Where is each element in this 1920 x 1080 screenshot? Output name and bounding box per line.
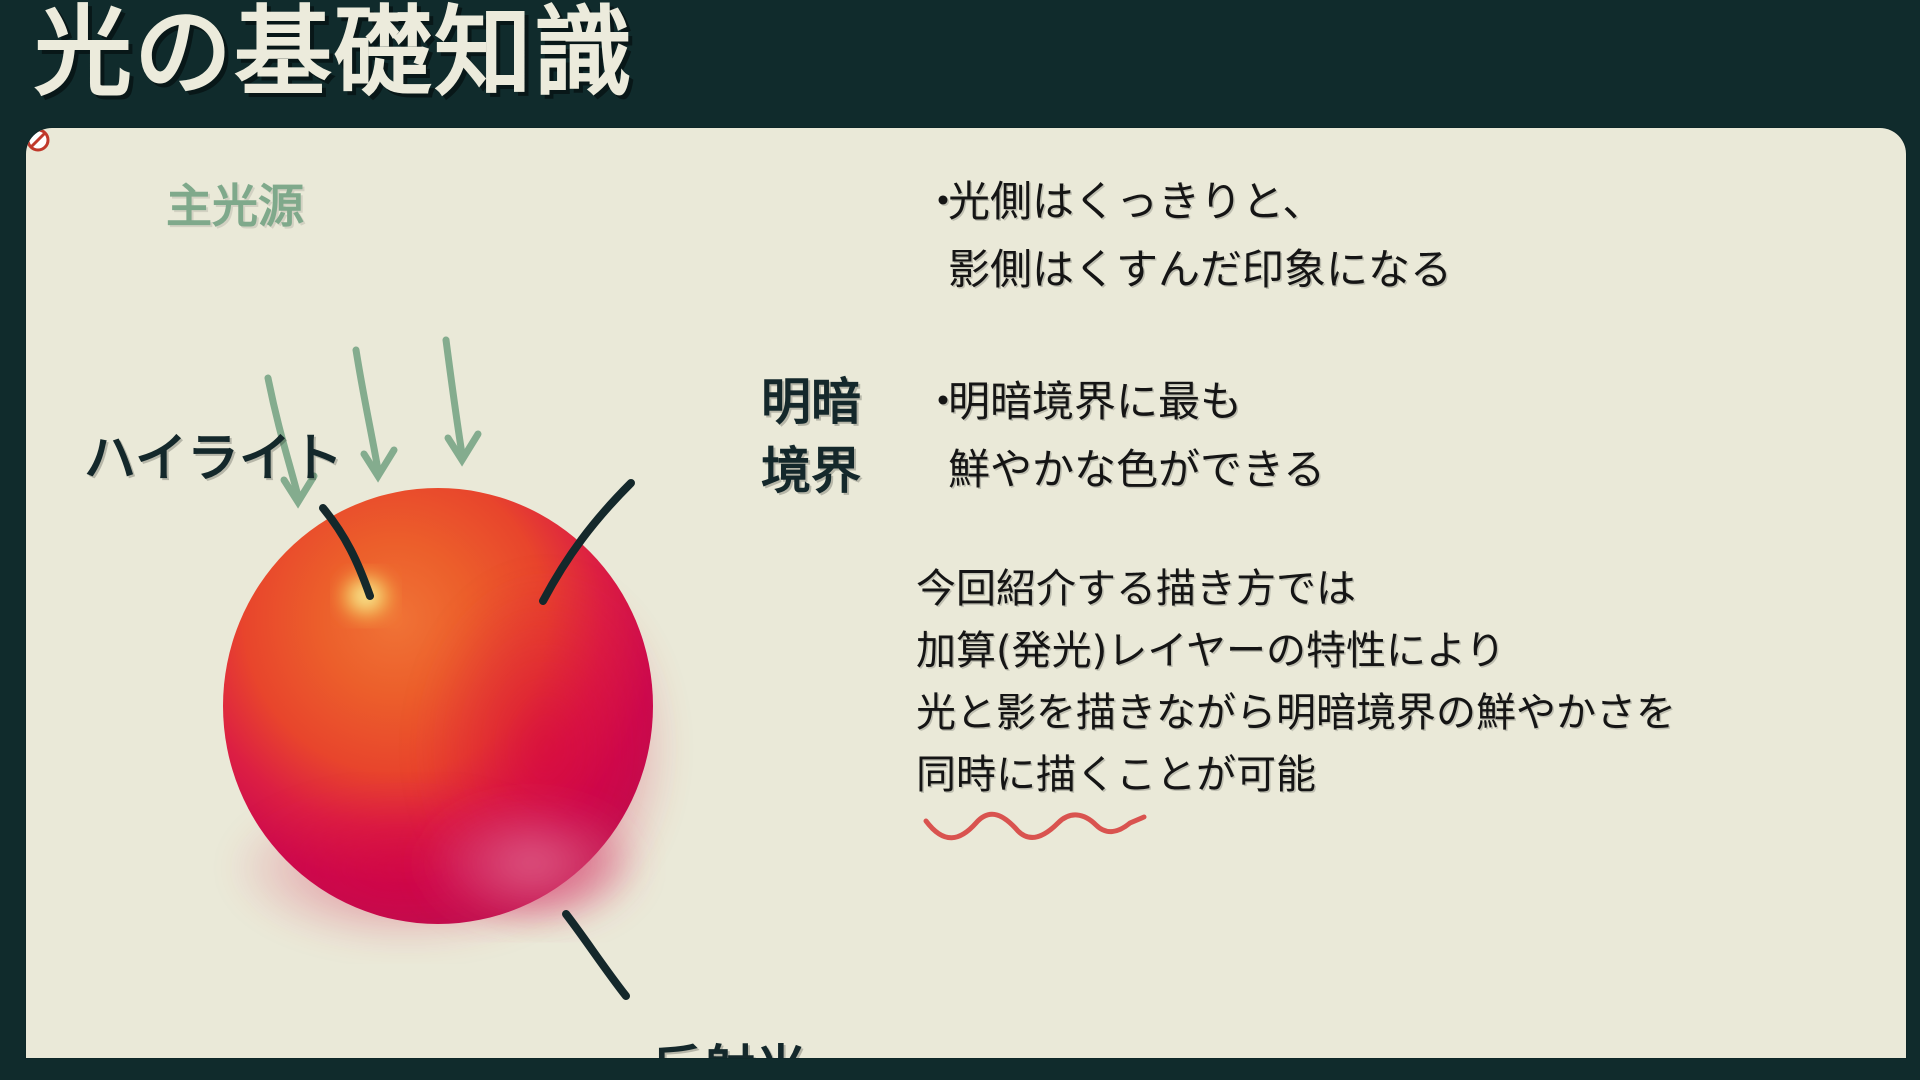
page-title: 光の基礎知識 <box>34 2 634 105</box>
bullet-text: 光側はくっきりと、 影側はくすんだ印象になる <box>948 168 1452 304</box>
label-terminator-line1: 明暗 <box>761 368 861 437</box>
paragraph-line: 同時に描くことが可能 <box>916 744 1676 806</box>
bullet-line: 光側はくっきりと、 <box>948 168 1452 236</box>
bullet-item-1: ・ 光側はくっきりと、 影側はくすんだ印象になる <box>922 168 1452 304</box>
label-terminator: 明暗 境界 <box>761 368 861 506</box>
bullet-line: 鮮やかな色ができる <box>948 436 1325 504</box>
no-entry-icon <box>26 128 50 152</box>
sphere-illustration <box>223 488 676 948</box>
bullet-item-2: ・ 明暗境界に最も 鮮やかな色ができる <box>922 368 1325 504</box>
notes-column: ・ 光側はくっきりと、 影側はくすんだ印象になる ・ 明暗境界に最も 鮮やかな色… <box>906 128 1906 1058</box>
summary-paragraph: 今回紹介する描き方では 加算(発光)レイヤーの特性により 光と影を描きながら明暗… <box>916 558 1676 806</box>
diagram-graphics <box>26 128 926 1058</box>
label-reflected: 反射光 <box>651 1028 807 1058</box>
red-squiggle-underline <box>922 811 1152 845</box>
label-terminator-line2: 境界 <box>761 437 861 506</box>
header-bar: 光の基礎知識 <box>0 0 1920 132</box>
label-highlight: ハイライト <box>84 416 343 491</box>
light-diagram: 主光源 ハイライト 明暗 境界 反射光 <box>26 128 926 1058</box>
bullet-text: 明暗境界に最も 鮮やかな色ができる <box>948 368 1325 504</box>
content-panel: 主光源 ハイライト 明暗 境界 反射光 ・ 光側はくっきりと、 影側はくすんだ印… <box>26 128 1906 1058</box>
leader-reflected <box>566 914 626 996</box>
bullet-marker: ・ <box>922 368 948 436</box>
bullet-marker: ・ <box>922 168 948 236</box>
label-main-light: 主光源 <box>166 170 304 236</box>
slide-root: 光の基礎知識 <box>0 0 1920 1080</box>
paragraph-line: 光と影を描きながら明暗境界の鮮やかさを <box>916 682 1676 744</box>
paragraph-line: 今回紹介する描き方では <box>916 558 1676 620</box>
paragraph-line: 加算(発光)レイヤーの特性により <box>916 620 1676 682</box>
bullet-line: 明暗境界に最も <box>948 368 1325 436</box>
bullet-line: 影側はくすんだ印象になる <box>948 236 1452 304</box>
